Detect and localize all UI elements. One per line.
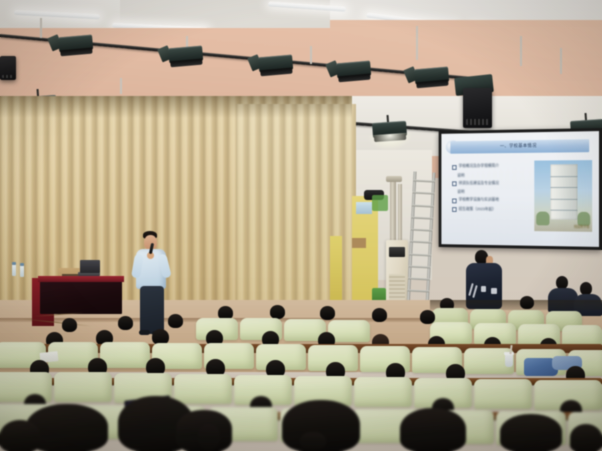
stage-light-fixture (414, 67, 450, 92)
slide-bullet-text: 学校概况及办学规模简介 (459, 163, 499, 168)
audience-head (270, 305, 285, 319)
stage-light-fixture (168, 46, 204, 71)
table-top-edge (38, 276, 124, 282)
projection-screen-surface: 一、学校基本情况 学校概况及办学规模简介 说明 师资队伍建设及专业情况 说明 学… (441, 131, 599, 247)
suspension-rod (120, 78, 122, 94)
slide-bullet-text: 招生政策（2023年起） (459, 206, 496, 211)
wall-sign (352, 238, 366, 248)
lamp-lens (170, 59, 202, 68)
slide-photo-tree (536, 211, 549, 225)
bullet-square-icon (452, 182, 457, 187)
lamp-lens (416, 80, 448, 89)
slide-bullet-text: 学校教学设施与实训基地 (459, 197, 499, 202)
building-floor-line (550, 210, 577, 211)
auditorium-seat (54, 372, 112, 402)
slide-photo-caption: 校园教学楼 (574, 224, 590, 229)
suspension-rod (520, 36, 522, 66)
lamp-lens (260, 68, 292, 77)
speaker-grille (466, 119, 488, 125)
building-floor-line (550, 187, 577, 188)
auditorium-photo: 一、学校基本情况 学校概况及办学规模简介 说明 师资队伍建设及专业情况 说明 学… (0, 0, 602, 451)
projection-screen[interactable]: 一、学校基本情况 学校概况及办学规模简介 说明 师资队伍建设及专业情况 说明 学… (439, 128, 602, 250)
ceiling-loudspeaker-left (0, 56, 16, 80)
slide-title-bar: 一、学校基本情况 (450, 139, 589, 153)
drink-cup (505, 354, 513, 367)
foreground-audience-head (400, 408, 466, 451)
presenter-legs (140, 286, 164, 334)
presenter-shoe (139, 330, 150, 335)
auditorium-seat (100, 342, 150, 368)
stage-light-fixture (336, 61, 372, 86)
ac-display-panel (389, 247, 405, 257)
foreground-audience-head (570, 424, 602, 451)
ladder-rung (413, 180, 435, 183)
water-bottle (12, 264, 16, 276)
bottle-cap (12, 262, 16, 265)
ponytail (300, 432, 326, 451)
audience-head (372, 308, 387, 322)
foreground-audience-head (0, 420, 40, 451)
slide-bullet-text: 师资队伍建设及专业情况 (459, 180, 499, 185)
lamp-lens (374, 134, 406, 142)
green-object (372, 195, 388, 211)
building-floor-line (550, 199, 577, 200)
laptop-lid (80, 260, 100, 273)
ladder-rung (409, 265, 431, 268)
ponytail (198, 424, 220, 451)
audience-head (168, 314, 183, 328)
ac-vent (389, 274, 406, 303)
slide-bullet-sub: 说明 (457, 172, 529, 177)
curtain-top-shadow (0, 96, 352, 118)
yellow-wall-panel-2 (330, 236, 342, 308)
ladder-rung (409, 253, 431, 256)
foreground-audience-head (500, 414, 562, 451)
ceiling-loudspeaker (463, 88, 492, 128)
slide-title-text: 一、学校基本情况 (500, 143, 537, 149)
ladder-rung (412, 204, 434, 207)
suspension-rod (416, 26, 418, 60)
suspension-rod (40, 18, 42, 38)
slide-photo: 校园教学楼 (534, 160, 592, 232)
bullet-square-icon (452, 198, 457, 203)
bottle-cap (20, 263, 24, 266)
water-bottle (20, 265, 24, 277)
wall-pipe (398, 184, 402, 242)
building-floor-line (550, 176, 577, 177)
head-table (40, 280, 122, 314)
ladder-rung (408, 277, 430, 280)
stage-light-fixture (372, 121, 407, 145)
lamp-lens (60, 48, 92, 57)
wall-pipe (390, 180, 396, 242)
bullet-square-icon (452, 207, 457, 212)
audience-head (320, 306, 335, 320)
lamp-lens (338, 74, 370, 83)
slide-bullet-item: 学校教学设施与实训基地 (452, 197, 529, 204)
ladder-rung (412, 192, 434, 195)
audience-head (118, 316, 133, 330)
audience-head (520, 296, 534, 309)
slide-bullet-list: 学校概况及办学规模简介 说明 师资队伍建设及专业情况 说明 学校教学设施与实训基… (452, 163, 529, 216)
speaker-grille (2, 75, 14, 79)
suspension-rod (560, 48, 562, 74)
auditorium-seat (354, 377, 412, 407)
audience-head (62, 318, 77, 332)
stage-light-fixture (58, 35, 94, 60)
slide-bullet-item: 师资队伍建设及专业情况 (452, 180, 529, 186)
jacket-logo (481, 286, 486, 292)
slide-bullet-item: 学校概况及办学规模简介 (452, 163, 529, 170)
auditorium-seat (474, 379, 532, 409)
ladder-rung (411, 216, 433, 219)
suspension-rod (310, 46, 312, 64)
slide-bullet-item: 招生政策（2023年起） (452, 206, 529, 213)
slide-bullet-sub: 说明 (457, 189, 529, 194)
bullet-square-icon (452, 165, 457, 170)
ladder-rung (407, 290, 429, 293)
ladder-rung (410, 241, 432, 244)
pipe-joint (386, 176, 402, 182)
floor-air-conditioner (386, 240, 408, 308)
ladder-rung (410, 229, 432, 232)
auditorium-seat (174, 374, 232, 404)
slide-photo-building (550, 165, 577, 221)
jacket-logo (491, 288, 497, 294)
stage-light-fixture (258, 55, 294, 80)
wall-window (356, 202, 372, 214)
